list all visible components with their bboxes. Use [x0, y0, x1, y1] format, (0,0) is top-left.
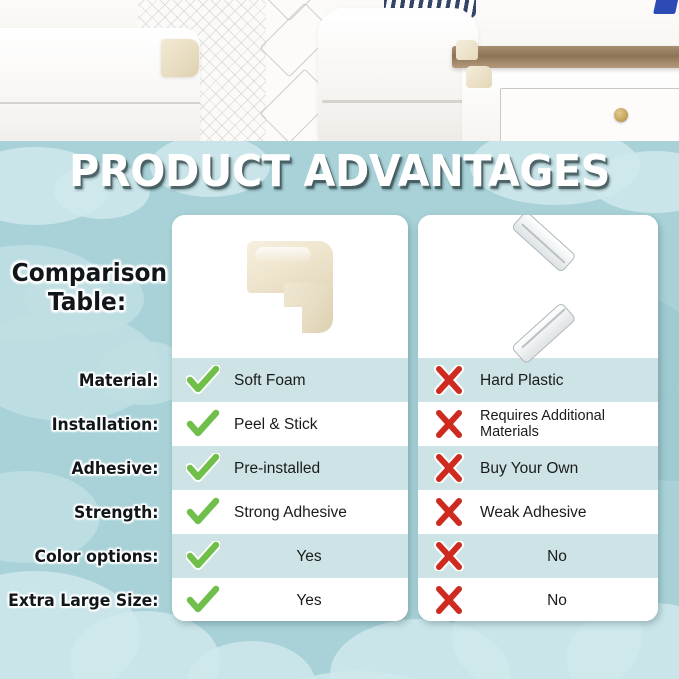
table-row: No — [418, 578, 658, 621]
table-row: Buy Your Own — [418, 446, 658, 490]
cell-value: Yes — [234, 592, 408, 609]
cell-value: Peel & Stick — [234, 416, 408, 433]
cell-value: Requires Additional Materials — [480, 408, 658, 440]
product-card-foam: Soft Foam Peel & Stick — [172, 215, 408, 621]
photo-side-table-drawer — [500, 88, 679, 141]
product-image-foam — [172, 215, 408, 358]
table-row: Hard Plastic — [418, 358, 658, 402]
photo-blue-accent — [653, 0, 679, 14]
cross-icon — [418, 365, 480, 395]
row-label-extra-large-size: Extra Large Size: — [8, 578, 168, 622]
table-row: Strong Adhesive — [172, 490, 408, 534]
cell-value: Weak Adhesive — [480, 504, 658, 521]
row-label-material: Material: — [8, 358, 168, 402]
row-label-column: Material: Installation: Adhesive: Streng… — [0, 358, 168, 622]
cell-value: Strong Adhesive — [234, 504, 408, 521]
cross-icon — [418, 453, 480, 483]
product-advantages-poster: PRODUCT ADVANTAGES Comparison Table: Mat… — [0, 0, 679, 679]
check-icon — [172, 453, 234, 483]
table-row: Yes — [172, 534, 408, 578]
foam-highlight — [255, 247, 311, 263]
check-icon — [172, 497, 234, 527]
photo-white-armchair — [318, 8, 478, 141]
table-row: Pre-installed — [172, 446, 408, 490]
photo-drawer-knob — [614, 108, 628, 122]
comparison-table-label-line1: Comparison — [12, 258, 163, 287]
cell-value: No — [480, 548, 658, 565]
cell-value: Hard Plastic — [480, 372, 658, 389]
foam-value-rows: Soft Foam Peel & Stick — [172, 358, 408, 621]
cross-icon — [418, 585, 480, 615]
table-row: Soft Foam — [172, 358, 408, 402]
check-icon — [172, 541, 234, 571]
clear-plastic-corner-protector-icon — [493, 239, 583, 335]
cell-value: Yes — [234, 548, 408, 565]
table-row: Peel & Stick — [172, 402, 408, 446]
cell-value: Soft Foam — [234, 372, 408, 389]
lifestyle-photo — [0, 0, 679, 141]
cell-value: No — [480, 592, 658, 609]
table-row: No — [418, 534, 658, 578]
table-row: Requires Additional Materials — [418, 402, 658, 446]
table-row: Weak Adhesive — [418, 490, 658, 534]
cross-icon — [418, 497, 480, 527]
comparison-table-label-line2: Table: — [12, 287, 163, 316]
product-card-plastic: Hard Plastic Requires Additional Materia… — [418, 215, 658, 621]
chevron-lower-arm — [511, 301, 577, 364]
comparison-table-label: Comparison Table: — [12, 258, 163, 316]
foam-inner-notch — [284, 307, 302, 333]
photo-corner-guard-on-sofa — [161, 39, 199, 77]
page-title: PRODUCT ADVANTAGES — [20, 146, 658, 197]
beige-foam-corner-guard-icon — [247, 241, 333, 333]
row-label-strength: Strength: — [8, 490, 168, 534]
check-icon — [172, 585, 234, 615]
cross-icon — [418, 541, 480, 571]
table-row: Yes — [172, 578, 408, 621]
cell-value: Buy Your Own — [480, 460, 658, 477]
product-image-plastic — [418, 215, 658, 358]
cell-value: Pre-installed — [234, 460, 408, 477]
photo-corner-guard-on-table — [456, 40, 478, 60]
check-icon — [172, 409, 234, 439]
row-label-installation: Installation: — [8, 402, 168, 446]
check-icon — [172, 365, 234, 395]
plastic-value-rows: Hard Plastic Requires Additional Materia… — [418, 358, 658, 621]
row-label-adhesive: Adhesive: — [8, 446, 168, 490]
photo-wood-table-top — [452, 46, 679, 68]
row-label-color-options: Color options: — [8, 534, 168, 578]
cross-icon — [418, 409, 480, 439]
photo-corner-guard-on-table — [466, 66, 492, 88]
